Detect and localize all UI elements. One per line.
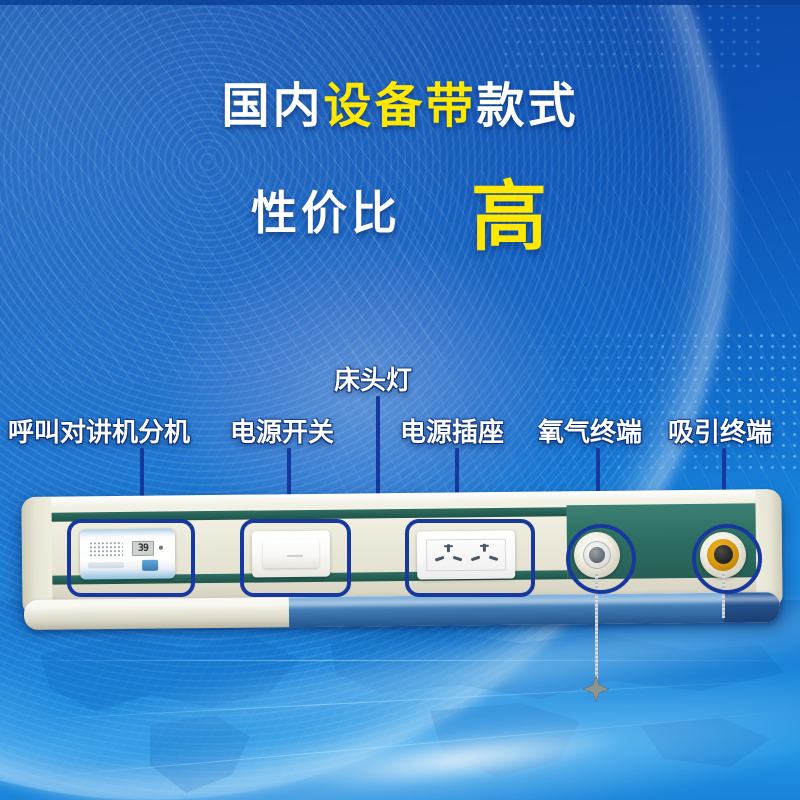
headline-line-2: 性价比高	[0, 155, 800, 265]
callout-label-power-switch: 电源开关	[230, 412, 334, 449]
callout-label-suction-terminal: 吸引终端	[668, 412, 772, 449]
headline-value-text: 性价比	[251, 187, 401, 239]
highlight-box-nurse-call-intercom	[67, 519, 195, 597]
top-edge-bar	[0, 0, 800, 5]
headline-value-emphasis: 高	[471, 175, 549, 260]
callout-label-power-socket: 电源插座	[400, 412, 504, 449]
highlight-circle-oxygen-terminal	[566, 524, 636, 594]
callout-label-oxygen-terminal: 氧气终端	[538, 412, 642, 449]
halftone-dots-right	[470, 330, 800, 470]
headline-seg-1: 国内	[221, 80, 323, 133]
callout-label-nurse-call-intercom: 呼叫对讲机分机	[8, 412, 190, 449]
headline-seg-3: 款式	[477, 80, 579, 133]
headline-line-1: 国内设备带款式	[0, 78, 800, 136]
highlight-box-power-switch	[240, 519, 351, 597]
pull-cord-cross-tip-icon[interactable]	[583, 676, 609, 702]
callout-label-bed-head-lamp: 床头灯	[334, 360, 412, 397]
highlight-box-power-socket	[405, 519, 535, 597]
halftone-dots-top	[500, 0, 760, 70]
headline-seg-2-highlight: 设备带	[323, 80, 476, 133]
decorative-line-1	[0, 660, 800, 661]
product-poster: 国内设备带款式 性价比高 呼叫对讲机分机 电源开关 床头灯 电源插座 氧气终端 …	[0, 0, 800, 800]
highlight-circle-suction-terminal	[692, 524, 762, 594]
panel-end-cap-left	[21, 497, 52, 615]
